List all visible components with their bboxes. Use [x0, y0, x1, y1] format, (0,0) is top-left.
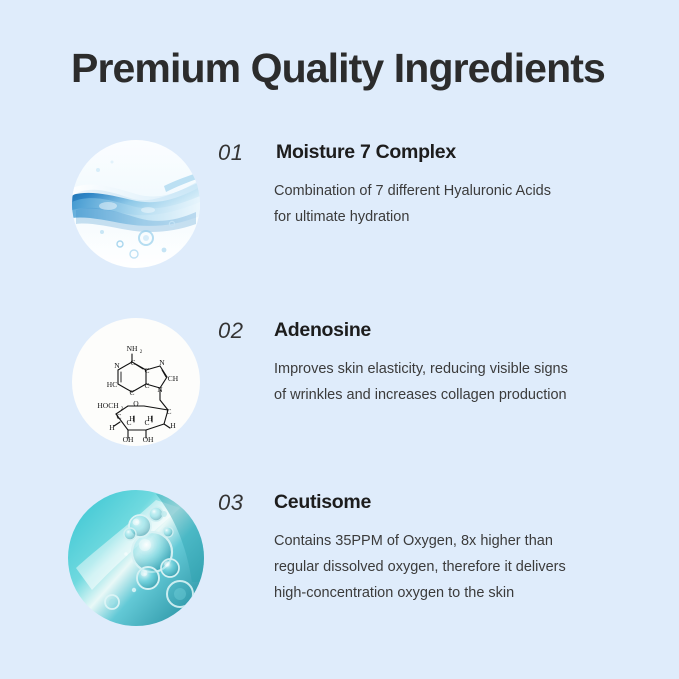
ingredient-heading-2: 02 Adenosine — [218, 318, 638, 348]
molecule-label-hc: HC — [107, 380, 117, 389]
ingredient-number: 02 — [218, 318, 243, 344]
molecule-label-amine: NH — [127, 344, 138, 353]
molecule-label-carbon: C — [130, 358, 135, 367]
ingredient-item-1: 01 Moisture 7 Complex Combination of 7 d… — [0, 140, 679, 280]
ingredient-title: Adenosine — [274, 319, 371, 342]
molecule-label-carbon: C — [116, 412, 121, 421]
ingredient-text-3: 03 Ceutisome Contains 35PPM of Oxygen, 8… — [218, 490, 638, 520]
ingredient-description-3: Contains 35PPM of Oxygen, 8x higher than… — [274, 528, 604, 606]
water-splash-image — [72, 140, 200, 268]
molecule-label-carbon: C — [144, 366, 149, 375]
molecule-label-carbon: C — [166, 407, 171, 416]
molecule-label-hydroxymethyl: HOCH — [97, 401, 119, 410]
molecule-label-hydroxyl: OH — [123, 435, 134, 444]
ingredient-text-1: 01 Moisture 7 Complex Combination of 7 d… — [218, 140, 638, 170]
ingredient-heading-3: 03 Ceutisome — [218, 490, 638, 520]
page-title: Premium Quality Ingredients — [71, 45, 605, 92]
molecule-label-nitrogen: N — [159, 358, 165, 367]
molecule-label-carbon: C — [144, 381, 149, 390]
ingredient-title: Moisture 7 Complex — [276, 141, 456, 164]
molecule-label-hydrogen: H — [109, 423, 115, 432]
molecule-label-ch: CH — [168, 374, 179, 383]
description-line: regular dissolved oxygen, therefore it d… — [274, 554, 604, 580]
ingredients-page: Premium Quality Ingredients — [0, 0, 679, 679]
ingredient-description-1: Combination of 7 different Hyaluronic Ac… — [274, 178, 604, 230]
description-line: Contains 35PPM of Oxygen, 8x higher than — [274, 528, 604, 554]
ingredient-number: 01 — [218, 140, 243, 166]
ingredient-heading-1: 01 Moisture 7 Complex — [218, 140, 638, 170]
description-line: Combination of 7 different Hyaluronic Ac… — [274, 178, 604, 204]
ingredient-item-2: NH 2 N C HC C C C N CH N HOCH 2 O C C H — [0, 318, 679, 458]
molecule-label-hydroxyl: OH — [143, 435, 154, 444]
molecule-label-oxygen: O — [133, 399, 139, 408]
ingredient-item-3: 03 Ceutisome Contains 35PPM of Oxygen, 8… — [0, 490, 679, 630]
molecule-label-carbon: C — [126, 418, 131, 427]
description-line: Improves skin elasticity, reducing visib… — [274, 356, 604, 382]
ingredient-description-2: Improves skin elasticity, reducing visib… — [274, 356, 604, 408]
molecule-label-hydrogen: H — [170, 421, 176, 430]
molecule-label-nitrogen: N — [157, 385, 163, 394]
molecule-label-carbon: C — [144, 418, 149, 427]
molecule-label-carbon: C — [129, 388, 134, 397]
description-line: high-concentration oxygen to the skin — [274, 580, 604, 606]
molecule-label-nitrogen: N — [114, 361, 120, 370]
ingredient-title: Ceutisome — [274, 491, 371, 514]
description-line: of wrinkles and increases collagen produ… — [274, 382, 604, 408]
oxygen-bubbles-image — [68, 490, 204, 626]
ingredient-text-2: 02 Adenosine Improves skin elasticity, r… — [218, 318, 638, 348]
ingredient-number: 03 — [218, 490, 243, 516]
adenosine-molecule-image: NH 2 N C HC C C C N CH N HOCH 2 O C C H — [72, 318, 200, 446]
description-line: for ultimate hydration — [274, 204, 604, 230]
